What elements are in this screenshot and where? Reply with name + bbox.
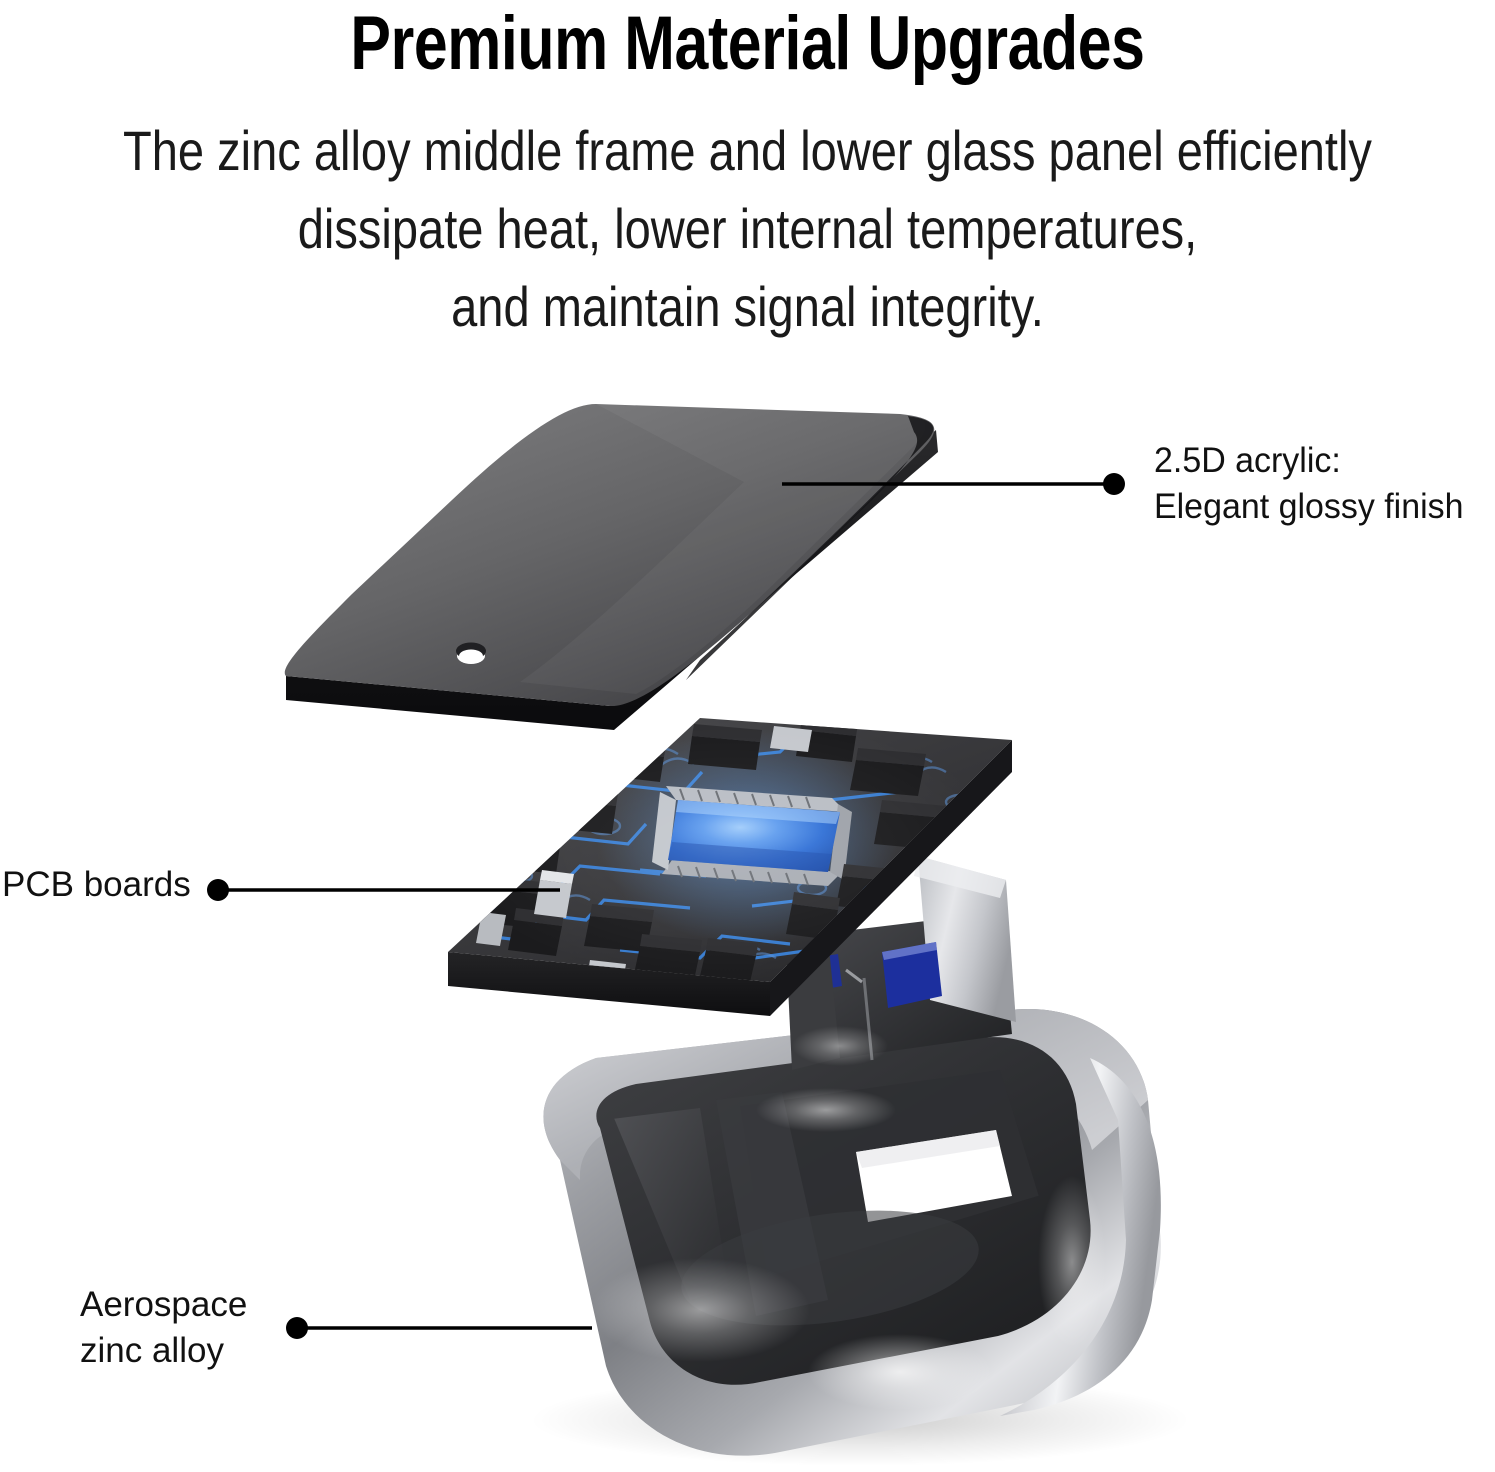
acrylic-hole (457, 648, 485, 664)
leader-lines (226, 484, 1108, 1328)
chip-die (668, 800, 840, 872)
ground-shadow (530, 1374, 1190, 1466)
pcb-board (448, 718, 1012, 1016)
zinc-specular-front-right (808, 1334, 992, 1410)
usb-seam-line (864, 978, 872, 1060)
usb-body-dark (786, 912, 1012, 1064)
callout-pcb: PCB boards (2, 862, 191, 908)
chip-pins-top (666, 786, 846, 812)
usb-metal-shell (918, 856, 1016, 1022)
zinc-specular-front-left (590, 1258, 810, 1362)
chip-glow (598, 728, 898, 944)
usb-blue-insert-main (882, 942, 942, 1008)
callout-zinc: Aerospace zinc alloy (80, 1282, 247, 1373)
page-subtitle: The zinc alloy middle frame and lower gl… (120, 112, 1376, 346)
subtitle-line-3: and maintain signal integrity. (120, 268, 1376, 346)
acrylic-hole-inner (459, 650, 483, 663)
leader-dot-acrylic (1103, 473, 1125, 495)
zinc-specular-right (1038, 1176, 1106, 1348)
chip-pins-bottom (662, 860, 842, 886)
pcb-traces (466, 732, 996, 960)
zinc-outer-body (543, 1009, 1160, 1456)
usb-stem (786, 938, 840, 1070)
callout-acrylic: 2.5D acrylic: Elegant glossy finish (1154, 438, 1464, 529)
chip-pin-ticks (678, 789, 810, 885)
zinc-interior-post (716, 1092, 828, 1316)
zinc-inner-wall-back (740, 1070, 1040, 1290)
chip-die-bottom-bevel (668, 842, 832, 872)
acrylic-sheen (520, 404, 926, 694)
product-infographic: Premium Material Upgrades The zinc alloy… (0, 0, 1495, 1472)
zinc-right-highlight (1000, 1058, 1161, 1416)
usb-blue-insert-bevel (882, 942, 937, 960)
zinc-inner-wall-left (604, 1108, 740, 1360)
callout-acrylic-line-2: Elegant glossy finish (1154, 484, 1464, 530)
callout-pcb-line-1: PCB boards (2, 862, 191, 908)
callout-zinc-line-2: zinc alloy (80, 1328, 247, 1374)
usb-shell-top-bevel (914, 856, 1006, 898)
usb-specular (792, 1026, 888, 1066)
zinc-specular-top (756, 1088, 896, 1132)
zinc-inner-floor (674, 1194, 986, 1343)
pcb-silkscreen (508, 748, 974, 960)
acrylic-top-panel (285, 404, 938, 730)
subtitle-line-1: The zinc alloy middle frame and lower gl… (120, 112, 1376, 190)
page-title: Premium Material Upgrades (150, 2, 1346, 86)
usb-connector (786, 856, 1016, 1070)
zinc-cavity (596, 1037, 1090, 1385)
chip-pins-right (830, 804, 852, 880)
chip-pins-left (652, 792, 676, 870)
callout-zinc-line-1: Aerospace (80, 1282, 247, 1328)
acrylic-rim-right (686, 416, 933, 680)
zinc-alloy-frame (543, 1009, 1160, 1456)
leader-dot-pcb (207, 879, 229, 901)
usb-blue-insert-secondary (800, 954, 842, 993)
usb-notch (846, 970, 862, 982)
acrylic-hole-rim (456, 643, 486, 660)
subtitle-line-2: dissipate heat, lower internal temperatu… (120, 190, 1376, 268)
pcb-surface-sheen (448, 718, 1012, 982)
leader-dot-zinc (286, 1317, 308, 1339)
zinc-window-bevel (856, 1130, 1000, 1168)
pcb-substrate (448, 718, 1012, 982)
pcb-edge-right (770, 740, 1012, 1016)
pcb-components (474, 718, 946, 988)
zinc-window-opening (856, 1130, 1012, 1222)
chip-die-top-bevel (676, 800, 840, 824)
acrylic-face (285, 404, 935, 706)
leader-dots (207, 473, 1125, 1339)
callout-acrylic-line-1: 2.5D acrylic: (1154, 438, 1464, 484)
zinc-top-rim (543, 1009, 1148, 1180)
pcb-edge-front (448, 952, 770, 1016)
acrylic-edge (286, 430, 938, 730)
